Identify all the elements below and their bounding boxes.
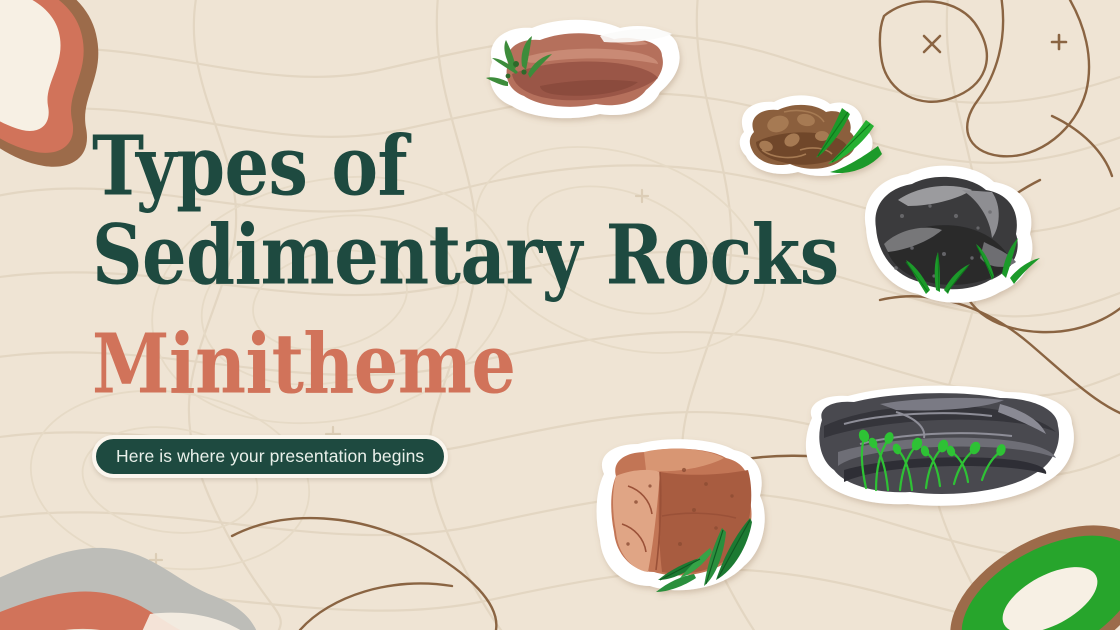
- title-line-2: Sedimentary Rocks: [92, 215, 892, 296]
- banner-label: Here is where your presentation begins: [116, 446, 424, 467]
- title-line-1: Types of: [92, 126, 892, 207]
- presentation-start-banner[interactable]: Here is where your presentation begins: [92, 435, 448, 478]
- subtitle: Minitheme: [92, 324, 515, 405]
- presentation-slide: Types of Sedimentary Rocks Minitheme Her…: [0, 0, 1120, 630]
- rock-layered-red: [486, 20, 680, 118]
- rock-sandstone-block: [597, 439, 765, 592]
- rock-shale-slab: [806, 386, 1074, 506]
- page-title: Types of Sedimentary Rocks: [92, 126, 892, 283]
